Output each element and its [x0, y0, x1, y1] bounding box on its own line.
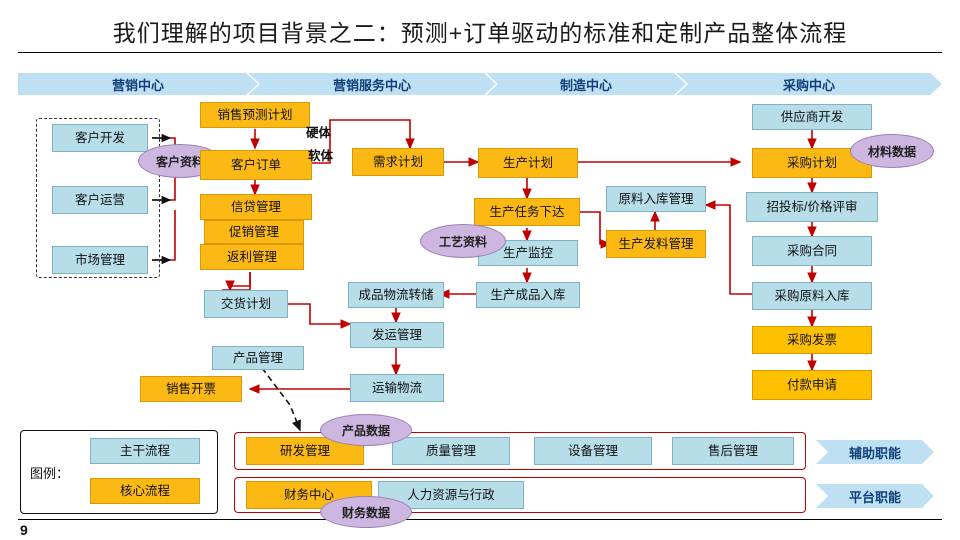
- footer-divider: [18, 519, 942, 520]
- ellipse-finance-data: 财务数据: [320, 496, 412, 528]
- node-market-mgmt[interactable]: 市场管理: [52, 246, 148, 274]
- node-production-issue-mgmt[interactable]: 生产发料管理: [606, 230, 706, 258]
- node-purchase-contract[interactable]: 采购合同: [752, 236, 872, 266]
- node-payment-request[interactable]: 付款申请: [752, 370, 872, 400]
- node-supplier-dev[interactable]: 供应商开发: [752, 104, 872, 130]
- node-credit-mgmt[interactable]: 信贷管理: [200, 194, 312, 220]
- ellipse-process-data: 工艺资料: [420, 224, 506, 258]
- node-customer-order[interactable]: 客户订单: [200, 150, 312, 180]
- node-material-inbound-mgmt[interactable]: 原料入库管理: [606, 186, 706, 212]
- band-purchasing-center: 采购中心: [676, 73, 942, 95]
- node-finished-goods-logistics[interactable]: 成品物流转储: [348, 282, 444, 308]
- node-purchase-material-inbound[interactable]: 采购原料入库: [752, 282, 872, 310]
- page-number: 9: [20, 522, 28, 538]
- node-equipment-mgmt[interactable]: 设备管理: [534, 437, 652, 465]
- ellipse-product-data: 产品数据: [320, 414, 412, 446]
- node-rebate-mgmt[interactable]: 返利管理: [200, 244, 304, 270]
- node-production-plan[interactable]: 生产计划: [478, 148, 578, 178]
- node-purchase-invoice[interactable]: 采购发票: [752, 326, 872, 354]
- node-production-task-release[interactable]: 生产任务下达: [474, 198, 580, 226]
- node-sales-invoice[interactable]: 销售开票: [140, 376, 242, 402]
- band-manufacturing-center: 制造中心: [486, 73, 686, 95]
- band-marketing-center: 营销中心: [18, 73, 258, 95]
- title-divider: [18, 52, 942, 53]
- node-after-sales-mgmt[interactable]: 售后管理: [672, 437, 794, 465]
- node-quality-mgmt[interactable]: 质量管理: [392, 437, 510, 465]
- slide-canvas: 我们理解的项目背景之二：预测+订单驱动的标准和定制产品整体流程 9 营销中心 营…: [0, 0, 960, 540]
- node-customer-ops[interactable]: 客户运营: [52, 186, 148, 214]
- label-hardware: 硬体: [306, 122, 331, 141]
- node-shipping-mgmt[interactable]: 发运管理: [350, 322, 444, 348]
- node-promotion-mgmt[interactable]: 促销管理: [204, 220, 304, 244]
- label-software: 软体: [308, 145, 333, 164]
- node-product-mgmt[interactable]: 产品管理: [212, 346, 304, 370]
- page-title: 我们理解的项目背景之二：预测+订单驱动的标准和定制产品整体流程: [0, 14, 960, 48]
- legend-title: 图例：: [30, 463, 69, 482]
- chevron-support-functions: 辅助职能: [816, 440, 934, 464]
- node-finished-goods-inbound[interactable]: 生产成品入库: [476, 282, 580, 308]
- node-demand-plan[interactable]: 需求计划: [352, 148, 444, 176]
- chevron-platform-functions: 平台职能: [816, 484, 934, 508]
- node-bidding-price-review[interactable]: 招投标/价格评审: [746, 192, 878, 222]
- ellipse-material-data: 材料数据: [850, 134, 934, 168]
- legend-item-main-process: 主干流程: [90, 438, 200, 464]
- node-delivery-plan[interactable]: 交货计划: [204, 290, 288, 318]
- node-customer-dev[interactable]: 客户开发: [52, 124, 148, 152]
- band-marketing-service-center: 营销服务中心: [248, 73, 496, 95]
- node-transport-logistics[interactable]: 运输物流: [350, 374, 444, 402]
- node-sales-forecast-plan[interactable]: 销售预测计划: [200, 102, 310, 128]
- legend-item-core-process: 核心流程: [90, 478, 200, 504]
